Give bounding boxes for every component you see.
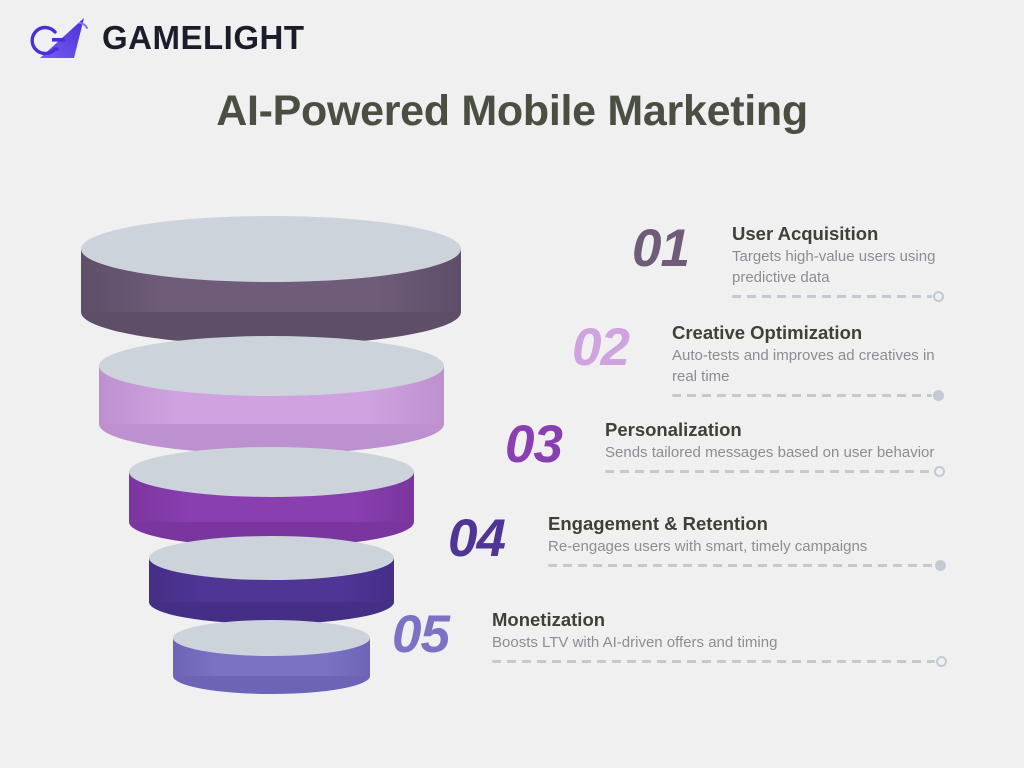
funnel-disc-top-face <box>81 216 461 282</box>
dashed-line <box>605 470 933 473</box>
step-heading: User Acquisition <box>732 222 952 245</box>
funnel-disc-3 <box>129 447 414 547</box>
step-text-block: Engagement & RetentionRe-engages users w… <box>548 512 952 571</box>
step-heading: Personalization <box>605 418 952 441</box>
step-number: 03 <box>505 418 605 471</box>
step-connector-line <box>548 561 946 571</box>
step-text-block: Creative OptimizationAuto-tests and impr… <box>672 321 952 401</box>
step-description: Targets high-value users using predictiv… <box>732 247 952 288</box>
step-item-02[interactable]: 02Creative OptimizationAuto-tests and im… <box>572 321 952 401</box>
connector-endpoint-filled-icon <box>935 560 946 571</box>
step-item-05[interactable]: 05MonetizationBoosts LTV with AI-driven … <box>392 608 952 667</box>
step-text-block: PersonalizationSends tailored messages b… <box>605 418 952 477</box>
step-number: 02 <box>572 321 672 374</box>
step-text-block: User AcquisitionTargets high-value users… <box>732 222 952 302</box>
funnel-disc-top-face <box>99 336 444 396</box>
step-heading: Creative Optimization <box>672 321 952 344</box>
dashed-line <box>732 295 932 298</box>
step-description: Auto-tests and improves ad creatives in … <box>672 346 952 387</box>
step-connector-line <box>732 292 944 302</box>
funnel-disc-top-face <box>149 536 394 580</box>
step-number: 04 <box>448 512 548 565</box>
step-item-04[interactable]: 04Engagement & RetentionRe-engages users… <box>448 512 952 571</box>
step-heading: Engagement & Retention <box>548 512 952 535</box>
step-number: 05 <box>392 608 492 661</box>
step-text-block: MonetizationBoosts LTV with AI-driven of… <box>492 608 952 667</box>
step-description: Sends tailored messages based on user be… <box>605 443 952 464</box>
step-connector-line <box>672 391 944 401</box>
funnel-disc-top-face <box>173 620 370 656</box>
step-connector-line <box>605 467 945 477</box>
connector-endpoint-hollow-icon <box>933 291 944 302</box>
dashed-line <box>672 394 932 397</box>
step-connector-line <box>492 657 947 667</box>
connector-endpoint-filled-icon <box>933 390 944 401</box>
step-item-03[interactable]: 03PersonalizationSends tailored messages… <box>505 418 952 477</box>
step-description: Re-engages users with smart, timely camp… <box>548 537 952 558</box>
dashed-line <box>548 564 934 567</box>
funnel-disc-2 <box>99 336 444 454</box>
step-item-01[interactable]: 01User AcquisitionTargets high-value use… <box>632 222 952 302</box>
funnel-disc-1 <box>81 216 461 345</box>
connector-endpoint-hollow-icon <box>936 656 947 667</box>
funnel-disc-5 <box>173 620 370 694</box>
funnel-disc-top-face <box>129 447 414 497</box>
dashed-line <box>492 660 935 663</box>
step-heading: Monetization <box>492 608 952 631</box>
funnel-disc-4 <box>149 536 394 624</box>
step-description: Boosts LTV with AI-driven offers and tim… <box>492 633 952 654</box>
connector-endpoint-hollow-icon <box>934 466 945 477</box>
step-number: 01 <box>632 222 732 275</box>
